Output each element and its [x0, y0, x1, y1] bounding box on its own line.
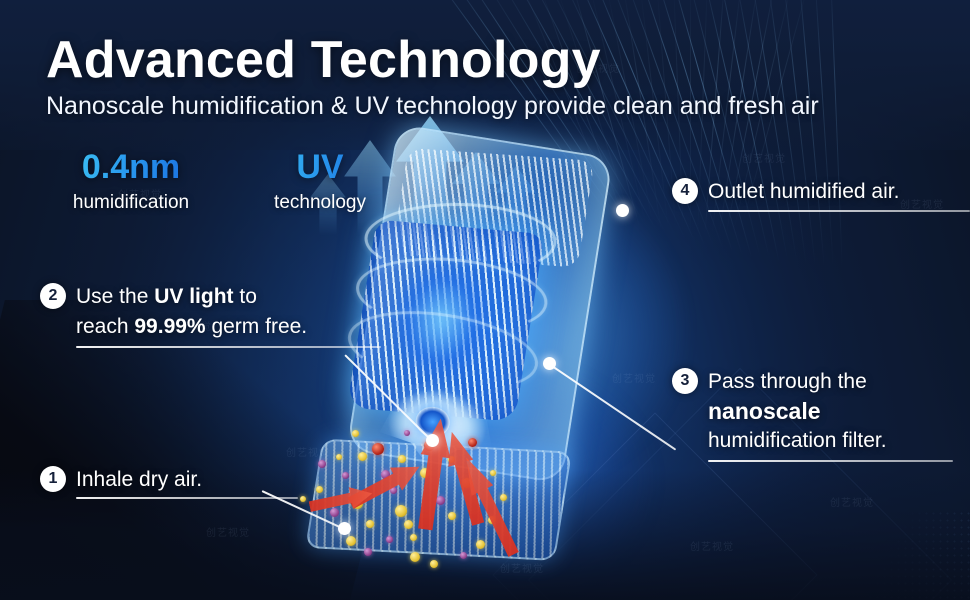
- callout-4-line1: Outlet humidified air.: [708, 178, 899, 206]
- germ-particle: [316, 486, 323, 493]
- callout-1-underline: [76, 497, 298, 499]
- callout-2-l2-a: reach: [76, 315, 134, 338]
- callout-1-inhale-dry-air: 1 Inhale dry air.: [40, 466, 298, 499]
- germ-particle: [346, 536, 356, 546]
- callout-3-line2: nanoscale: [708, 396, 953, 427]
- feature-label-0: humidification: [56, 192, 206, 214]
- feature-label-1: technology: [250, 192, 390, 214]
- germ-particle: [372, 443, 384, 455]
- callout-1-line1: Inhale dry air.: [76, 468, 202, 491]
- callout-4-badge: 4: [672, 178, 698, 204]
- germ-particle: [398, 455, 406, 463]
- callout-2-l2-c: germ free.: [206, 315, 308, 338]
- callout-2-underline: [76, 346, 381, 348]
- germ-particle: [476, 540, 485, 549]
- infographic-canvas: 创艺视觉创艺视觉创艺视觉创艺视觉创艺视觉创艺视觉创艺视觉创艺视觉创艺视觉创艺视觉…: [0, 0, 970, 600]
- germ-particle: [410, 552, 420, 562]
- callout-2-uv-light: 2 Use the UV light to reach 99.99% germ …: [40, 283, 381, 348]
- germ-particle: [448, 512, 456, 520]
- page-subtitle: Nanoscale humidification & UV technology…: [46, 92, 819, 121]
- callout-2-l1-c: to: [234, 285, 257, 308]
- germ-particle: [460, 552, 467, 559]
- callout-3-underline: [708, 460, 953, 462]
- feature-value-1: UV: [250, 150, 390, 186]
- callout-2-l2-b: 99.99%: [134, 315, 205, 338]
- callout-3-line3: humidification filter.: [708, 427, 953, 455]
- callout-1-badge: 1: [40, 466, 66, 492]
- callout-3-badge: 3: [672, 368, 698, 394]
- callout-3-line1: Pass through the: [708, 368, 867, 396]
- callout-2-line1: Use the UV light to: [76, 283, 257, 311]
- feature-humidification: 0.4nm humidification: [56, 150, 206, 214]
- germ-particle: [318, 460, 326, 468]
- germ-particle: [500, 494, 507, 501]
- callout-4-outlet-air: 4 Outlet humidified air.: [672, 178, 970, 212]
- feature-value-0: 0.4nm: [56, 150, 206, 186]
- germ-particle: [468, 438, 477, 447]
- page-title: Advanced Technology: [46, 30, 601, 90]
- germ-particle: [336, 454, 342, 460]
- callout-4-underline: [708, 210, 970, 212]
- callout-1-text: Inhale dry air.: [76, 466, 202, 494]
- leader-dot-4: [616, 204, 629, 217]
- germ-particle: [490, 470, 496, 476]
- germ-particle: [342, 472, 349, 479]
- germ-particle: [404, 520, 413, 529]
- germ-particle: [386, 536, 393, 543]
- germ-particle: [436, 496, 445, 505]
- germ-particle: [364, 548, 372, 556]
- germ-particle: [358, 452, 367, 461]
- callout-2-l1-b: UV light: [154, 285, 233, 308]
- callout-3-nanoscale-filter: 3 Pass through the nanoscale humidificat…: [672, 368, 953, 462]
- germ-particle: [366, 520, 374, 528]
- germ-particle: [410, 534, 417, 541]
- callout-2-badge: 2: [40, 283, 66, 309]
- germ-particle: [430, 560, 438, 568]
- germ-particle: [352, 430, 359, 437]
- germ-particle: [330, 508, 339, 517]
- callout-2-l1-a: Use the: [76, 285, 154, 308]
- germ-particle: [404, 430, 410, 436]
- callout-2-line2: reach 99.99% germ free.: [76, 313, 381, 341]
- germ-particle: [300, 496, 306, 502]
- germ-particle: [395, 505, 407, 517]
- feature-uv-technology: UV technology: [250, 150, 390, 214]
